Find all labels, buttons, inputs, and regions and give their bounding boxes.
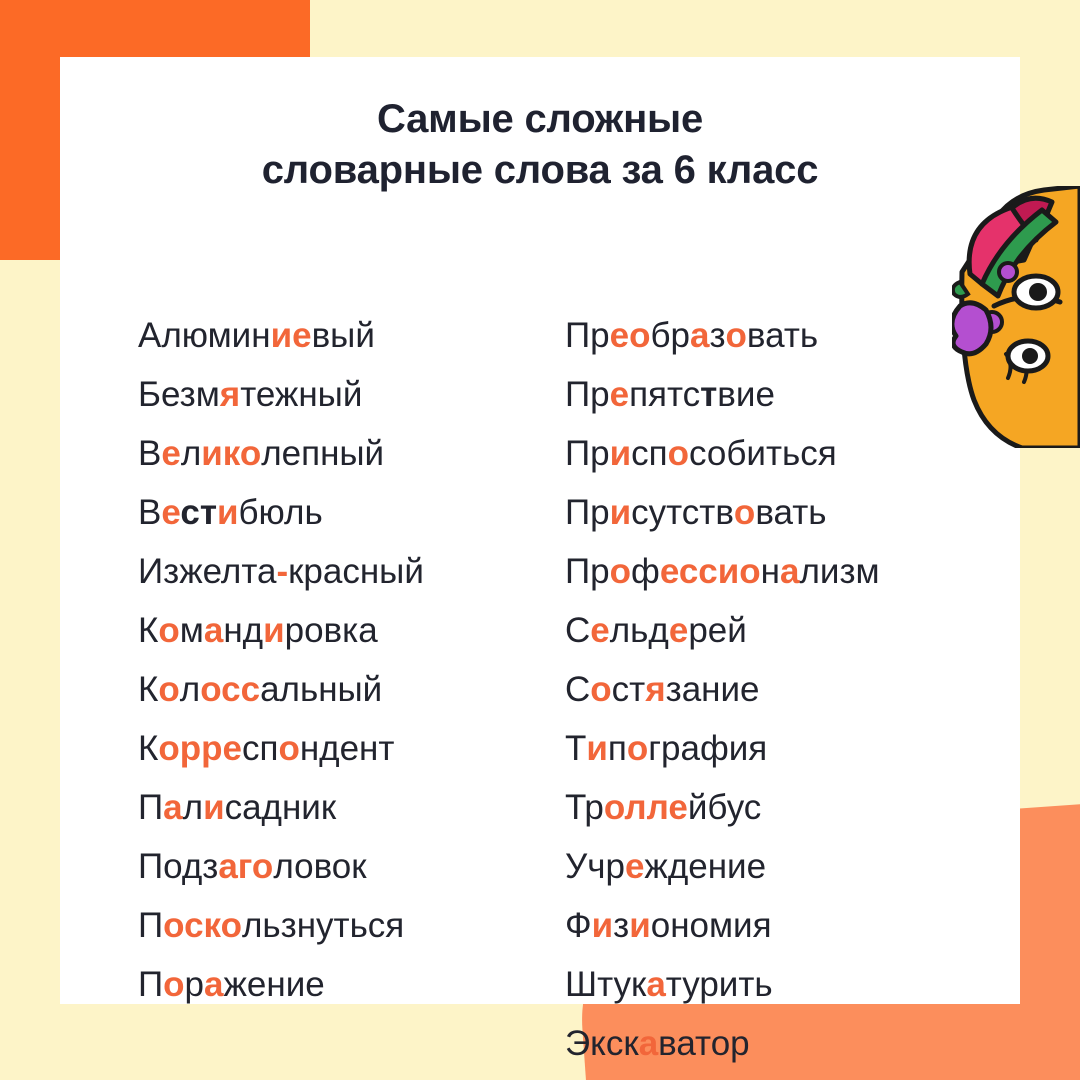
vocabulary-word: Командировка <box>138 601 565 660</box>
vocabulary-word: Великолепный <box>138 424 565 483</box>
highlighted-letters: а <box>204 611 223 650</box>
vocabulary-word: Безмятежный <box>138 365 565 424</box>
plain-letters: нд <box>223 611 263 650</box>
highlighted-letters: я <box>220 375 240 414</box>
plain-letters: ловок <box>273 847 366 886</box>
plain-letters: рей <box>688 611 746 650</box>
highlighted-letters: а <box>780 552 799 591</box>
highlighted-letters: а <box>163 788 182 827</box>
plain-letters: Пр <box>565 375 610 414</box>
plain-letters: вать <box>747 316 818 355</box>
plain-letters: сп <box>242 729 278 768</box>
highlighted-letters: олле <box>604 788 688 827</box>
plain-letters: Т <box>565 729 586 768</box>
plain-letters: сутств <box>631 493 734 532</box>
plain-letters: сп <box>631 434 667 473</box>
plain-letters: п <box>608 729 627 768</box>
vocabulary-word: Поражение <box>138 955 565 1014</box>
highlighted-letters: а <box>690 316 709 355</box>
vocabulary-word: Изжелта-красный <box>138 542 565 601</box>
plain-letters: ждение <box>644 847 766 886</box>
vocabulary-word: Палисадник <box>138 778 565 837</box>
vocabulary-word: Троллейбус <box>565 778 995 837</box>
plain-letters: р <box>185 965 204 1004</box>
plain-letters: зание <box>666 670 760 709</box>
highlighted-letters: и <box>592 906 614 945</box>
highlighted-letters: о <box>668 434 689 473</box>
plain-letters: турить <box>666 965 773 1004</box>
highlighted-letters: и <box>610 434 632 473</box>
plain-letters: К <box>138 670 158 709</box>
highlighted-letters: ик <box>201 434 240 473</box>
word-column-right: ПреобразоватьПрепятствиеПриспособитьсяПр… <box>565 306 995 1073</box>
highlighted-letters: е <box>610 375 629 414</box>
highlighted-letters: осс <box>200 670 260 709</box>
vocabulary-word: Состязание <box>565 660 995 719</box>
highlighted-letters: о <box>590 670 611 709</box>
plain-letters: пятс <box>629 375 700 414</box>
plain-letters: В <box>138 493 161 532</box>
highlighted-letters: и <box>203 788 225 827</box>
vocabulary-word: Корреспондент <box>138 719 565 778</box>
highlighted-letters: о <box>610 552 631 591</box>
page-title-line-2: словарные слова за 6 класс <box>60 145 1020 196</box>
plain-letters: льзнуться <box>242 906 404 945</box>
plain-letters: вый <box>312 316 375 355</box>
plain-letters: Алюмин <box>138 316 271 355</box>
highlighted-letters: о <box>163 965 184 1004</box>
highlighted-letters: о <box>158 670 179 709</box>
plain-letters: вие <box>717 375 775 414</box>
highlighted-letters: оск <box>163 906 220 945</box>
highlighted-letters: о <box>726 316 747 355</box>
plain-letters: красный <box>288 552 424 591</box>
plain-letters: лизм <box>799 552 879 591</box>
highlighted-letters: е <box>625 847 644 886</box>
highlighted-letters: е <box>669 611 688 650</box>
highlighted-letters: е <box>590 611 609 650</box>
vocabulary-word: Учреждение <box>565 837 995 896</box>
vocabulary-word: Колоссальный <box>138 660 565 719</box>
highlighted-letters: орре <box>158 729 242 768</box>
plain-letters: Изжелта <box>138 552 276 591</box>
plain-letters: ф <box>631 552 660 591</box>
vocabulary-word: Профессионализм <box>565 542 995 601</box>
highlighted-letters: ессио <box>660 552 761 591</box>
plain-letters: ватор <box>658 1024 749 1063</box>
highlighted-letters: о <box>252 847 273 886</box>
bold-letters: т <box>700 375 717 414</box>
plain-letters: Пр <box>565 434 610 473</box>
word-column-left: АлюминиевыйБезмятежныйВеликолепныйВестиб… <box>138 306 565 1073</box>
plain-letters: з <box>613 906 629 945</box>
highlighted-letters: е <box>161 434 180 473</box>
vocabulary-word: Преобразовать <box>565 306 995 365</box>
plain-letters: В <box>138 434 161 473</box>
plain-letters: Пр <box>565 316 610 355</box>
plain-letters: Пр <box>565 552 610 591</box>
highlighted-letters: аг <box>218 847 252 886</box>
plain-letters: П <box>138 788 163 827</box>
plain-letters: Учр <box>565 847 625 886</box>
plain-letters: л <box>181 434 201 473</box>
plain-letters: ндент <box>300 729 395 768</box>
plain-letters: К <box>138 611 158 650</box>
plain-letters: Тр <box>565 788 604 827</box>
plain-letters: бюль <box>239 493 323 532</box>
content-card: Самые сложные словарные слова за 6 класс… <box>60 57 1020 1004</box>
highlighted-letters: и <box>217 493 239 532</box>
highlighted-letters: а <box>646 965 665 1004</box>
plain-letters: ровка <box>285 611 378 650</box>
highlighted-letters: о <box>240 434 261 473</box>
highlighted-letters: о <box>221 906 242 945</box>
plain-letters: ономия <box>651 906 772 945</box>
plain-letters: Безм <box>138 375 220 414</box>
plain-letters: Пр <box>565 493 610 532</box>
plain-letters: жение <box>223 965 324 1004</box>
vocabulary-word: Присутствовать <box>565 483 995 542</box>
highlighted-letters: е <box>161 493 180 532</box>
highlighted-letters: о <box>158 611 179 650</box>
plain-letters: садник <box>225 788 337 827</box>
highlighted-letters: о <box>734 493 755 532</box>
vocabulary-word: Сельдерей <box>565 601 995 660</box>
plain-letters: тежный <box>240 375 362 414</box>
plain-letters: С <box>565 670 590 709</box>
vocabulary-word: Экскаватор <box>565 1014 995 1073</box>
plain-letters: лепный <box>261 434 384 473</box>
vocabulary-word: Алюминиевый <box>138 306 565 365</box>
highlighted-letters: о <box>627 729 648 768</box>
plain-letters: льд <box>610 611 669 650</box>
plain-letters: ст <box>612 670 646 709</box>
plain-letters: К <box>138 729 158 768</box>
vocabulary-word: Препятствие <box>565 365 995 424</box>
bold-letters: ст <box>180 493 217 532</box>
plain-letters: П <box>138 965 163 1004</box>
plain-letters: С <box>565 611 590 650</box>
plain-letters: з <box>709 316 725 355</box>
highlighted-letters: а <box>639 1024 658 1063</box>
plain-letters: графия <box>648 729 767 768</box>
highlighted-letters: ие <box>271 316 312 355</box>
plain-letters: П <box>138 906 163 945</box>
vocabulary-word: Приспособиться <box>565 424 995 483</box>
page-title: Самые сложные словарные слова за 6 класс <box>60 57 1020 196</box>
plain-letters: л <box>180 670 200 709</box>
plain-letters: альный <box>260 670 382 709</box>
vocabulary-word: Типография <box>565 719 995 778</box>
vocabulary-word: Физиономия <box>565 896 995 955</box>
highlighted-letters: и <box>629 906 651 945</box>
highlighted-letters: ео <box>610 316 651 355</box>
highlighted-letters: а <box>204 965 223 1004</box>
plain-letters: н <box>761 552 780 591</box>
word-columns: АлюминиевыйБезмятежныйВеликолепныйВестиб… <box>60 306 1020 1073</box>
highlighted-letters: о <box>278 729 299 768</box>
plain-letters: бр <box>650 316 690 355</box>
plain-letters: йбус <box>688 788 761 827</box>
plain-letters: Экск <box>565 1024 639 1063</box>
plain-letters: Ф <box>565 906 592 945</box>
plain-letters: Подз <box>138 847 218 886</box>
plain-letters: вать <box>755 493 826 532</box>
plain-letters: л <box>183 788 203 827</box>
highlighted-letters: и <box>586 729 608 768</box>
highlighted-letters: я <box>645 670 665 709</box>
vocabulary-word: Вестибюль <box>138 483 565 542</box>
vocabulary-word: Подзаголовок <box>138 837 565 896</box>
vocabulary-word: Поскользнуться <box>138 896 565 955</box>
highlighted-letters: и <box>263 611 285 650</box>
plain-letters: м <box>180 611 204 650</box>
highlighted-letters: и <box>610 493 632 532</box>
vocabulary-word: Штукатурить <box>565 955 995 1014</box>
plain-letters: Штук <box>565 965 646 1004</box>
plain-letters: собиться <box>689 434 837 473</box>
highlighted-letters: - <box>276 552 288 591</box>
page-title-line-1: Самые сложные <box>60 94 1020 145</box>
